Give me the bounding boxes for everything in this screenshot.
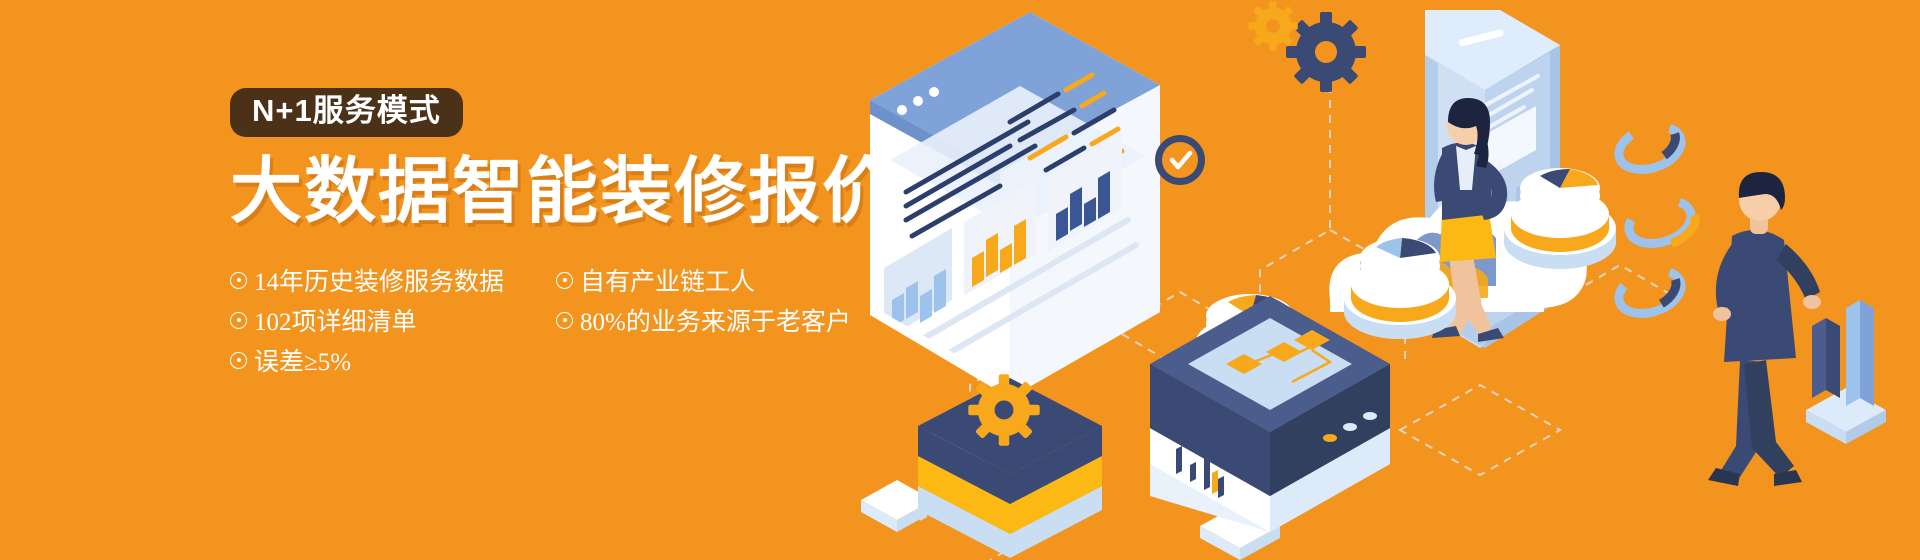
circled-dot-icon	[230, 312, 247, 329]
browser-window-dashboard	[870, 12, 1160, 398]
checkmark-badge-icon	[1155, 135, 1205, 185]
server-stack	[1150, 296, 1390, 532]
circled-dot-icon	[556, 312, 573, 329]
list-item: 自有产业链工人	[556, 260, 876, 300]
list-item-label: 14年历史装修服务数据	[254, 262, 504, 298]
businessman-figure	[1708, 172, 1821, 486]
circled-dot-icon	[556, 272, 573, 289]
isometric-big-data-illustration	[860, 0, 1920, 560]
circled-dot-icon	[230, 352, 247, 369]
circled-dot-icon	[230, 272, 247, 289]
service-model-badge: N+1服务模式	[230, 88, 463, 137]
list-item-label: 102项详细清单	[254, 302, 417, 338]
list-item: 误差≥5%	[230, 340, 550, 380]
list-item: 102项详细清单	[230, 300, 550, 340]
window-dot-icon	[929, 87, 939, 97]
database-hexagon-gear	[918, 374, 1102, 558]
ring-shapes	[1608, 115, 1701, 321]
gear-icon-large	[1286, 12, 1366, 92]
list-item-label: 误差≥5%	[254, 342, 351, 378]
list-item: 14年历史装修服务数据	[230, 260, 550, 300]
gear-icon	[968, 374, 1039, 445]
gear-icon-small	[1248, 1, 1298, 51]
bar-chart-navy-right	[1806, 300, 1886, 444]
list-item-label: 80%的业务来源于老客户	[580, 302, 851, 338]
window-dot-icon	[897, 105, 907, 115]
window-dot-icon	[913, 96, 923, 106]
list-item-label: 自有产业链工人	[580, 262, 755, 298]
promo-banner: N+1服务模式 大数据智能装修报价 14年历史装修服务数据 102项详细清单 误…	[0, 0, 1920, 560]
list-item: 80%的业务来源于老客户	[556, 300, 876, 340]
